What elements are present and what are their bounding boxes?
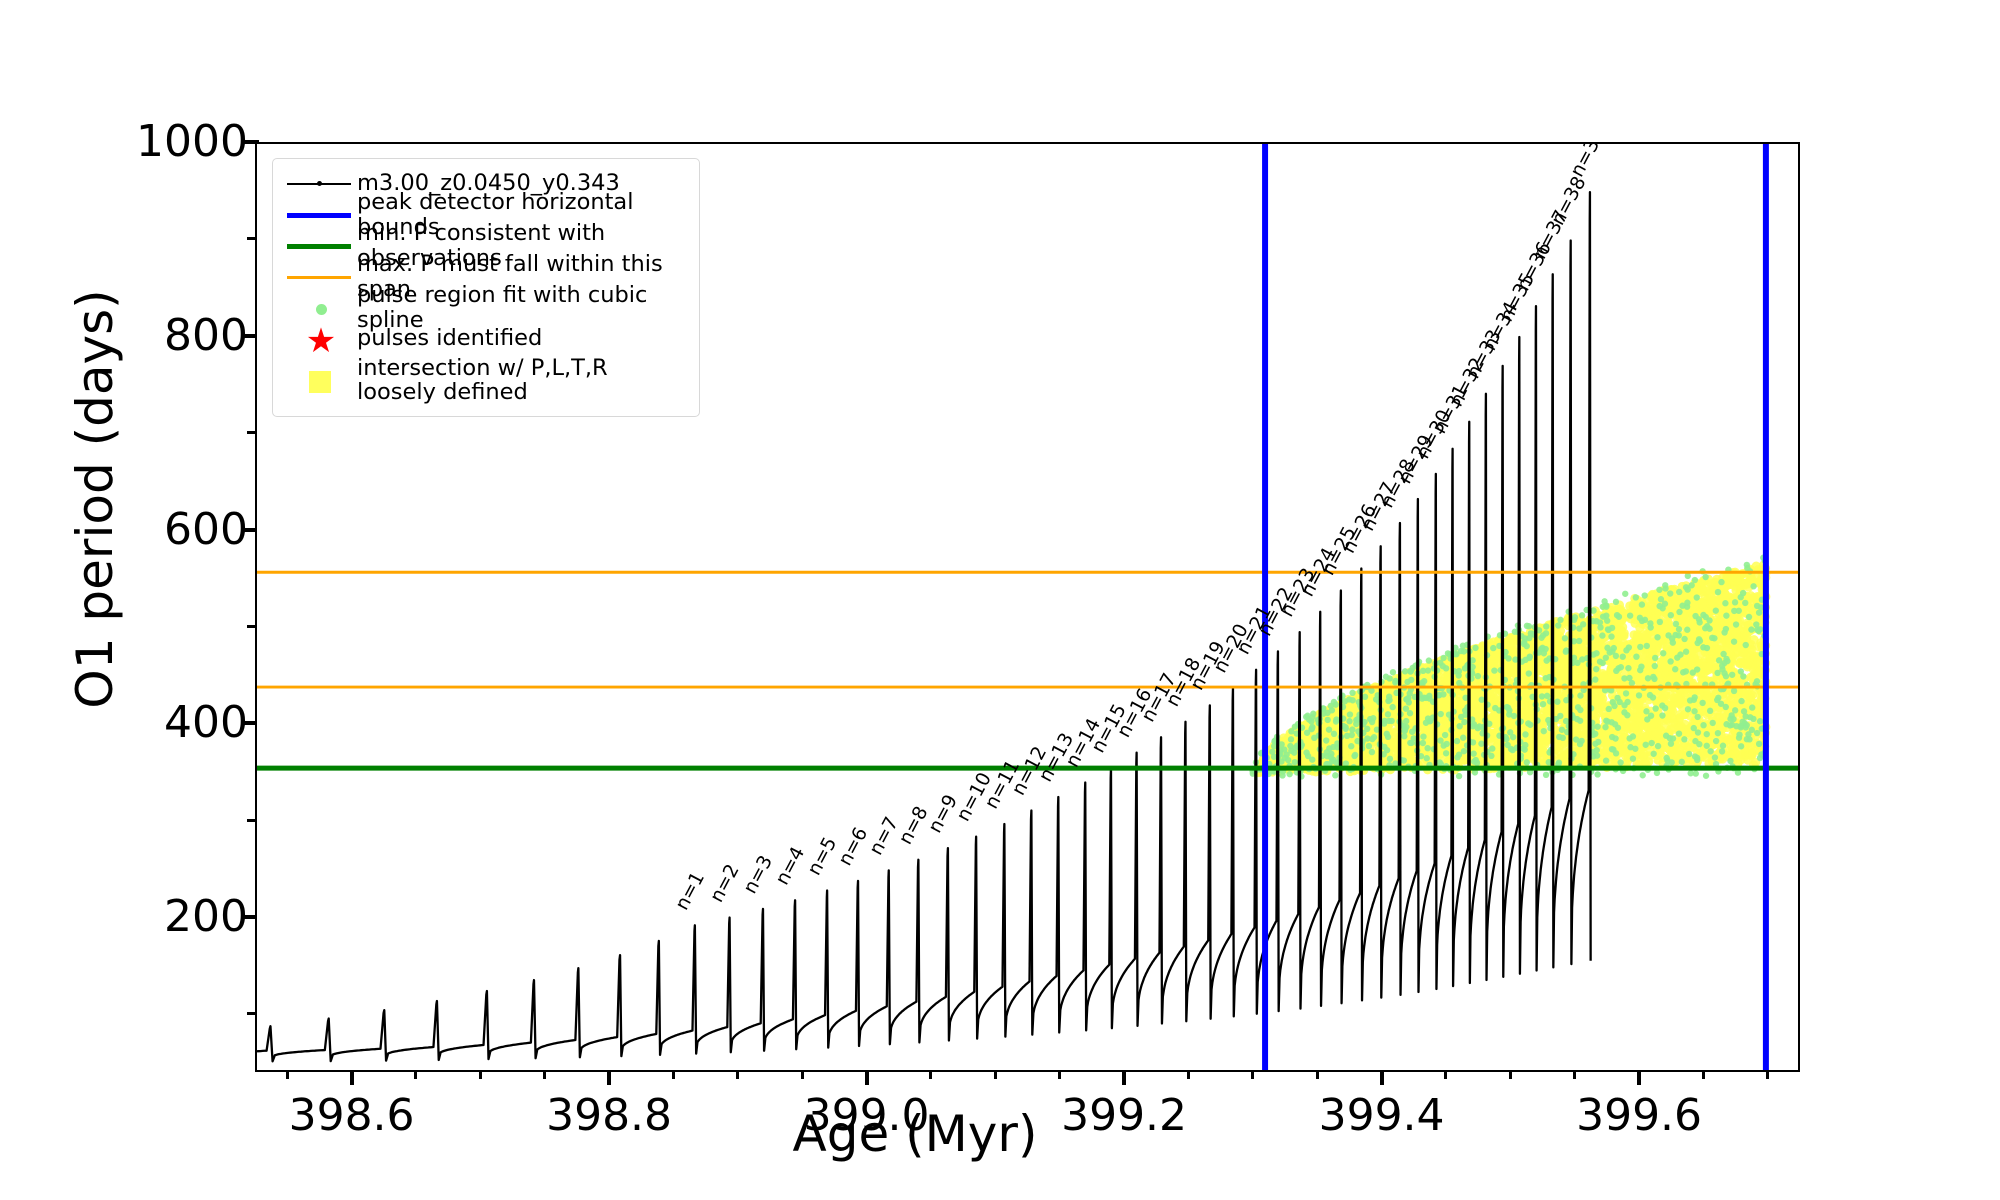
legend-star-red-icon: ★ xyxy=(283,324,357,354)
pulse-label: n=38 xyxy=(1547,173,1591,229)
legend-line-blue-icon xyxy=(283,200,357,230)
legend-square-yellow-icon xyxy=(283,365,357,395)
line-icon xyxy=(287,213,351,218)
legend-line-black-icon xyxy=(283,169,357,199)
y-tick-label: 1000 xyxy=(68,116,248,167)
legend-item[interactable]: pulse region fit with cubic spline xyxy=(283,292,689,323)
line-icon xyxy=(287,244,351,249)
point-marker-icon xyxy=(317,181,322,186)
x-tick-mark xyxy=(1380,1070,1384,1085)
y-tick-label: 800 xyxy=(68,310,248,361)
x-tick-mark xyxy=(607,1070,611,1085)
legend-dot-green-icon xyxy=(283,293,357,323)
legend-item[interactable]: intersection w/ P,L,T,R loosely defined xyxy=(283,354,689,406)
line-icon xyxy=(287,276,351,279)
legend-line-orange-icon xyxy=(283,262,357,292)
x-tick-label: 398.6 xyxy=(242,1090,462,1141)
x-tick-mark xyxy=(865,1070,869,1085)
legend-item-label: intersection w/ P,L,T,R loosely defined xyxy=(357,356,608,405)
x-tick-label: 398.8 xyxy=(499,1090,719,1141)
star-icon: ★ xyxy=(305,326,337,358)
pulse-label: n=4 xyxy=(771,843,809,889)
pulse-label: n=2 xyxy=(706,860,744,906)
x-tick-mark xyxy=(1637,1070,1641,1085)
square-marker-icon xyxy=(309,371,331,393)
legend-box[interactable]: m3.00_z0.0450_y0.343peak detector horizo… xyxy=(272,158,700,417)
figure-canvas: O1 period (days) Age (Myr) 1000800600400… xyxy=(0,0,2000,1200)
x-tick-label: 399.6 xyxy=(1529,1090,1749,1141)
x-tick-mark xyxy=(350,1070,354,1085)
y-tick-label: 600 xyxy=(68,504,248,555)
pulse-label: n=1 xyxy=(671,868,709,914)
x-tick-label: 399.0 xyxy=(757,1090,977,1141)
legend-line-green-icon xyxy=(283,231,357,261)
x-tick-label: 399.2 xyxy=(1014,1090,1234,1141)
y-tick-label: 400 xyxy=(68,697,248,748)
x-tick-label: 399.4 xyxy=(1272,1090,1492,1141)
legend-item-label: pulses identified xyxy=(357,326,542,350)
circle-marker-icon xyxy=(316,304,327,315)
pulse-label: n=3 xyxy=(739,852,777,898)
x-tick-mark xyxy=(1122,1070,1126,1085)
y-tick-label: 200 xyxy=(68,891,248,942)
